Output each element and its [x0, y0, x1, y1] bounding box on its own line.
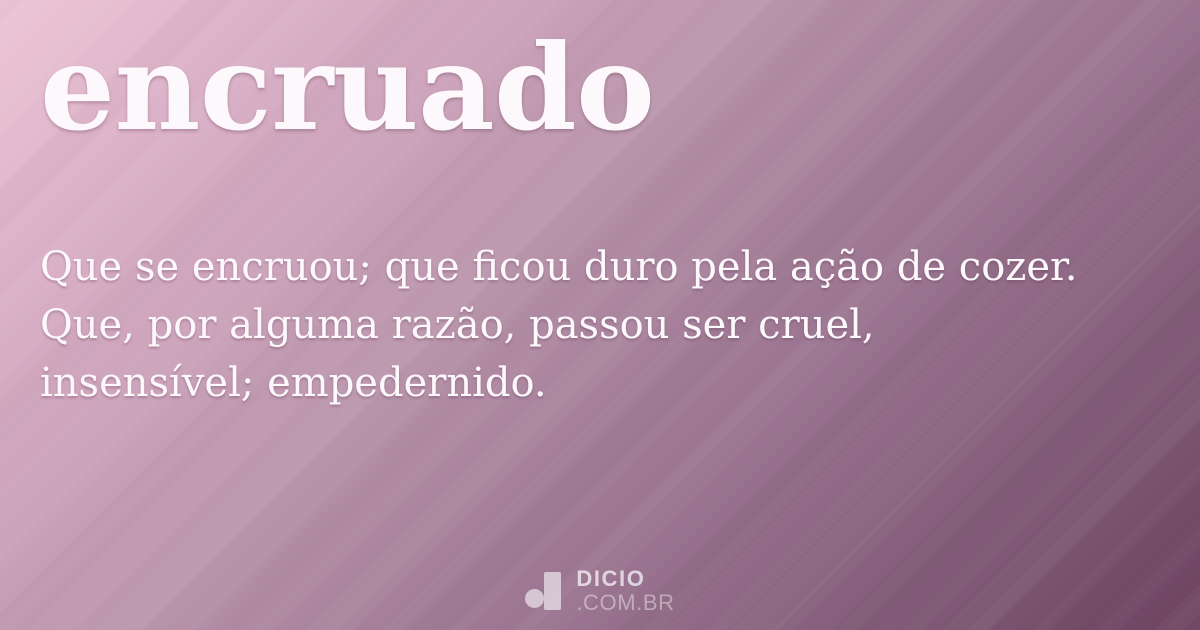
- dicio-logo[interactable]: DICIO .COM.BR: [0, 568, 1200, 614]
- dicio-logo-tld: .COM.BR: [576, 592, 674, 614]
- definition-item: Que se encruou; que ficou duro pela ação…: [40, 238, 1100, 296]
- dicio-logo-name: DICIO: [576, 568, 674, 590]
- dicio-logo-wordmark: DICIO .COM.BR: [576, 568, 674, 614]
- dicio-logo-mark-icon: [525, 572, 565, 610]
- word-definition-card: encruado Que se encruou; que ficou duro …: [0, 0, 1200, 630]
- definition-list: Que se encruou; que ficou duro pela ação…: [40, 238, 1100, 412]
- bar-mark-icon: [544, 572, 561, 610]
- definition-item: Que, por alguma razão, passou ser cruel,…: [40, 296, 1100, 412]
- card-content: encruado Que se encruou; que ficou duro …: [0, 0, 1200, 630]
- page-title: encruado: [40, 22, 654, 154]
- circle-mark-icon: [525, 589, 544, 608]
